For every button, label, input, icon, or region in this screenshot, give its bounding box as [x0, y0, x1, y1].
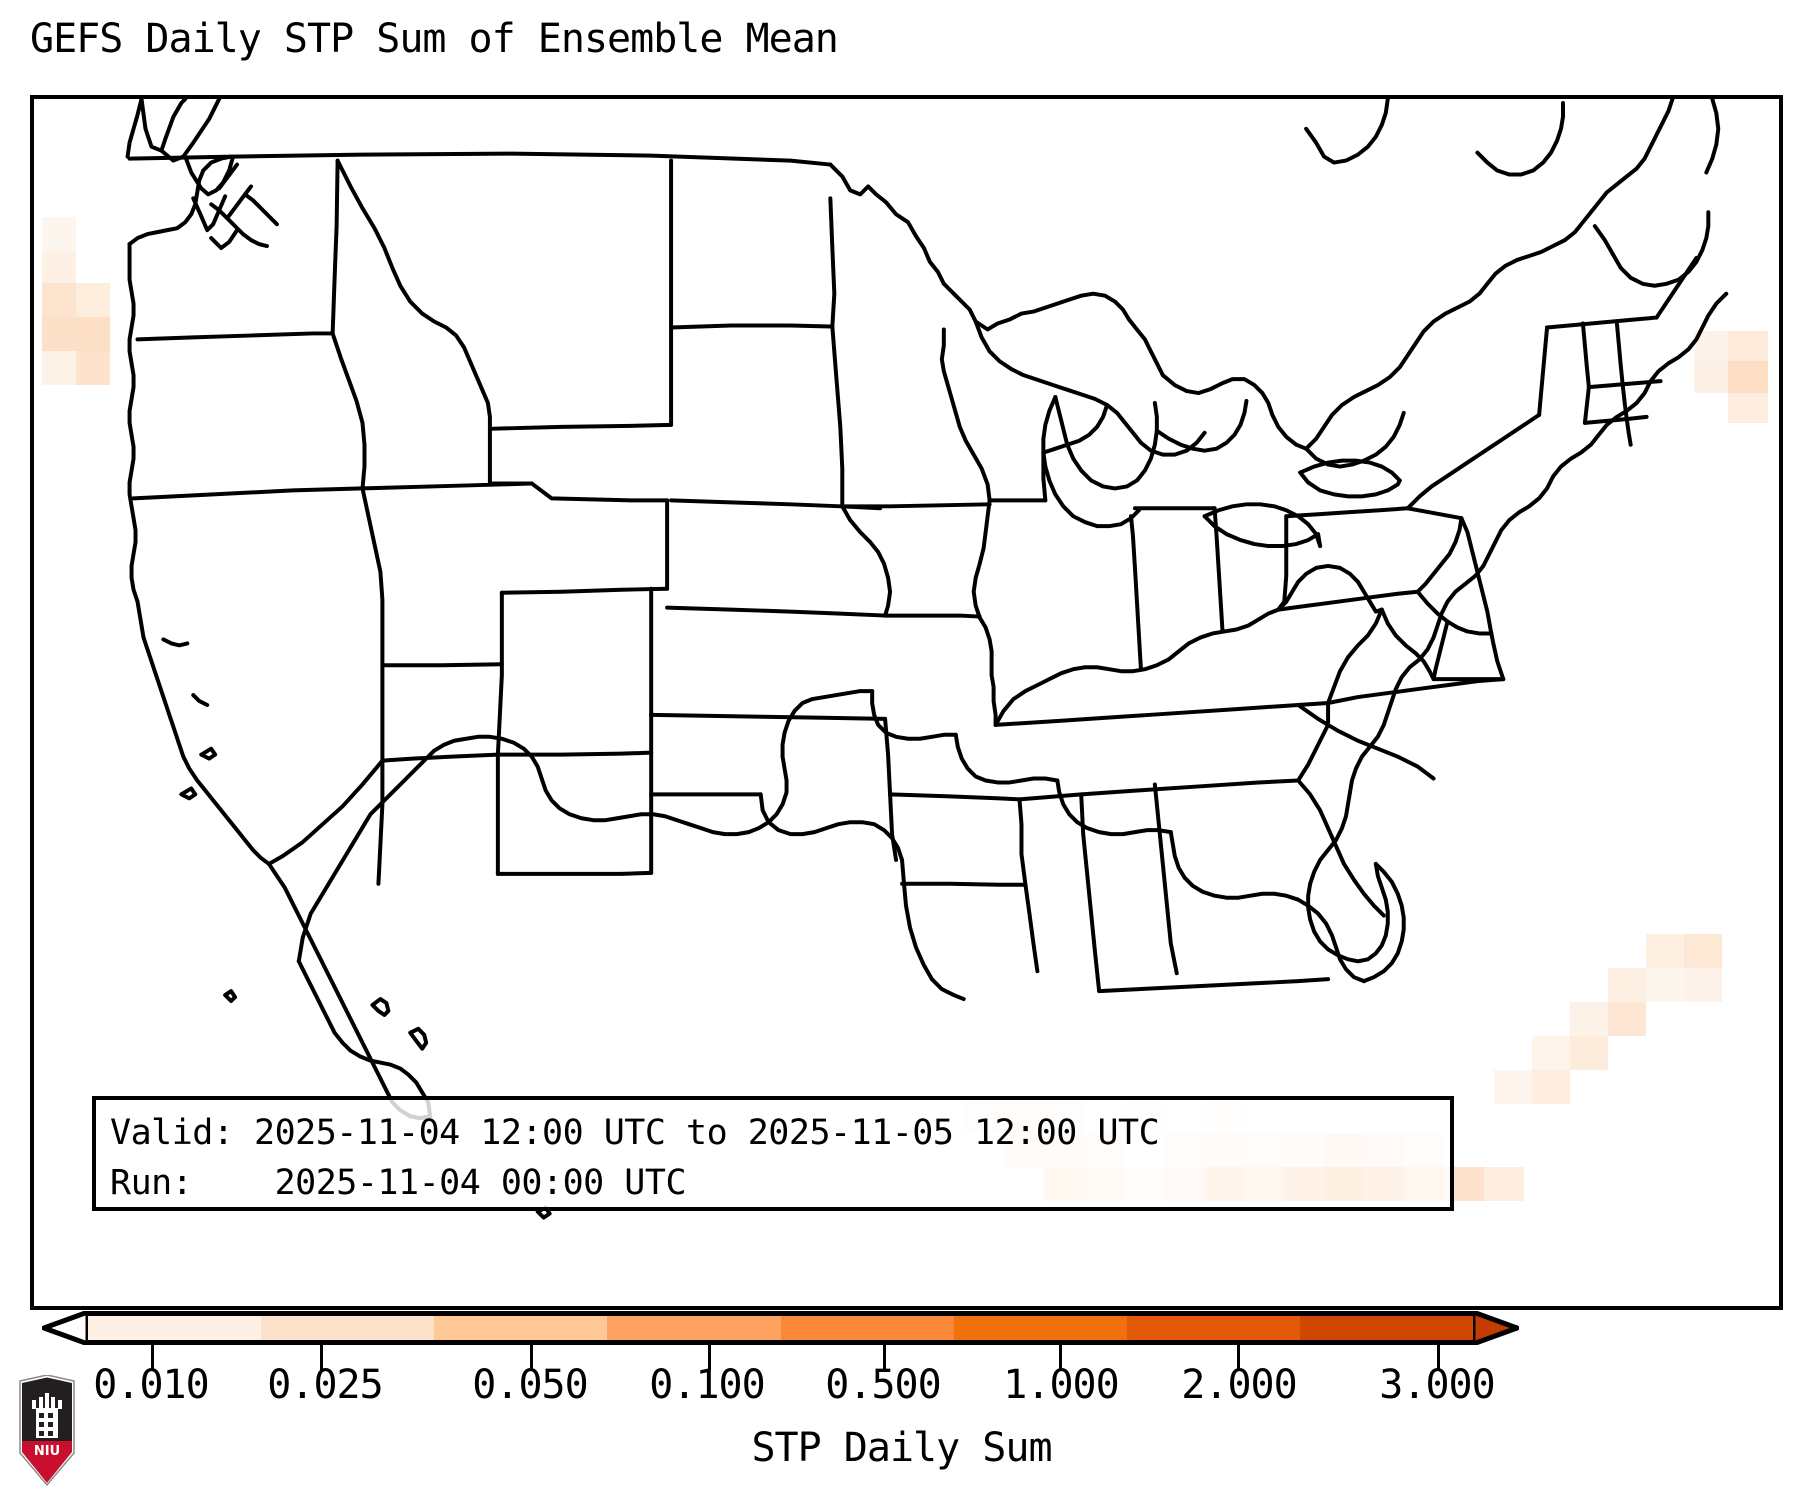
page-title: GEFS Daily STP Sum of Ensemble Mean [30, 16, 1780, 62]
annotation-box: Valid: 2025-11-04 12:00 UTC to 2025-11-0… [92, 1096, 1454, 1211]
map-panel: Valid: 2025-11-04 12:00 UTC to 2025-11-0… [30, 95, 1783, 1310]
niu-logo-text: NIU [34, 1444, 60, 1459]
colorbar-track [88, 1311, 1473, 1345]
colorbar-under-arrow [42, 1311, 88, 1345]
colorbar-tick-labels: 0.010 0.025 0.050 0.100 0.500 1.000 2.00… [0, 1362, 1803, 1414]
colorbar-tick-label: 0.025 [267, 1362, 382, 1408]
colorbar-tick-label: 0.050 [472, 1362, 587, 1408]
run-time-text: Run: 2025-11-04 00:00 UTC [110, 1158, 1436, 1208]
colorbar-tick-label: 1.000 [1003, 1362, 1118, 1408]
colorbar-segment [781, 1316, 954, 1340]
colorbar-segment [434, 1316, 607, 1340]
colorbar-axis-label: STP Daily Sum [0, 1425, 1803, 1471]
colorbar-tick-label: 0.100 [649, 1362, 764, 1408]
colorbar-segment [261, 1316, 434, 1340]
colorbar-segment [954, 1316, 1127, 1340]
colorbar-segment [607, 1316, 780, 1340]
niu-logo: NIU [17, 1375, 77, 1487]
valid-time-text: Valid: 2025-11-04 12:00 UTC to 2025-11-0… [110, 1108, 1436, 1158]
colorbar-tick-label: 0.500 [825, 1362, 940, 1408]
colorbar-segment [88, 1316, 261, 1340]
colorbar-tick-label: 3.000 [1379, 1362, 1494, 1408]
colorbar-segment [1127, 1316, 1300, 1340]
colorbar-segment [1300, 1316, 1473, 1340]
colorbar-tick-label: 2.000 [1181, 1362, 1296, 1408]
colorbar-tick-label: 0.010 [93, 1362, 208, 1408]
colorbar-over-arrow [1473, 1311, 1519, 1345]
